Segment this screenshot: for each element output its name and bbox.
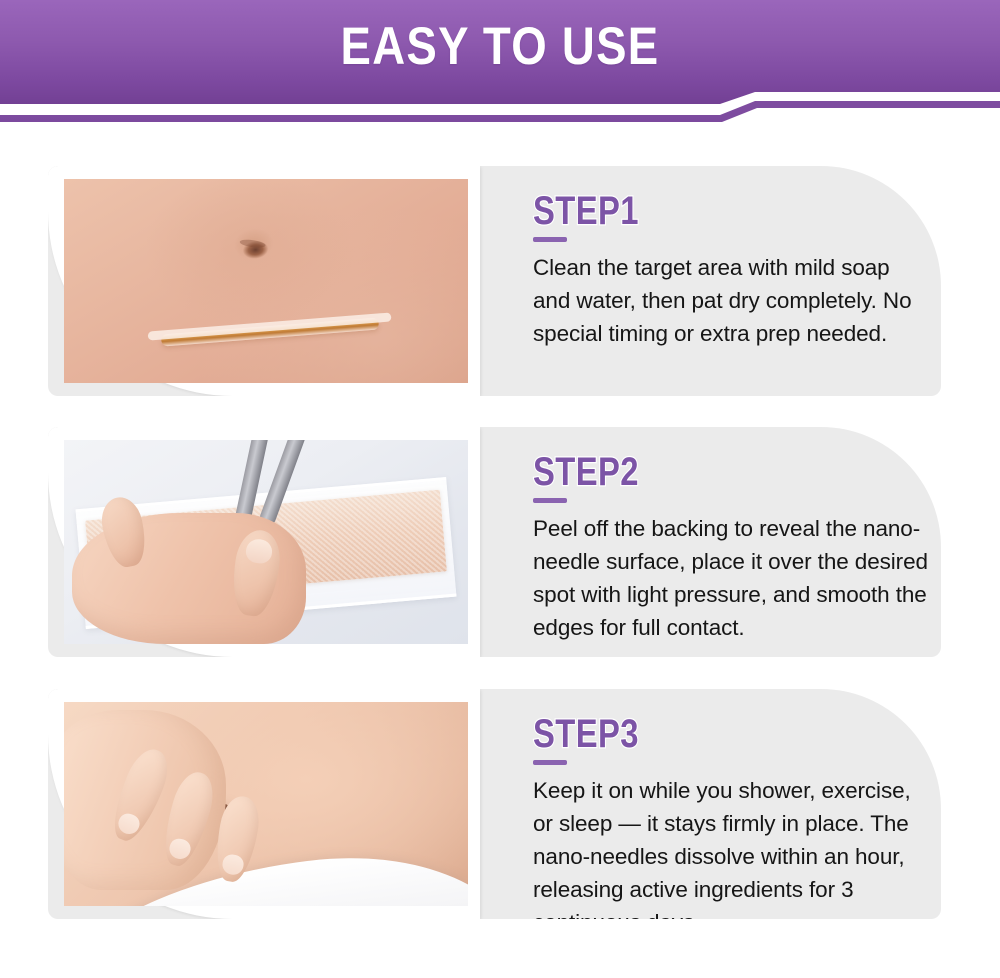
step-3-rule (533, 760, 567, 765)
step-2-body: Peel off the backing to reveal the nano-… (533, 512, 929, 644)
step-1-rule (533, 237, 567, 242)
step-1-photo-frame (48, 166, 480, 396)
step-3-photo-frame (48, 689, 480, 919)
page-title: EASY TO USE (70, 17, 930, 77)
skin-illustration (64, 179, 468, 383)
step-2-label: STEP2 (533, 451, 858, 493)
step-card-1: STEP1 Clean the target area with mild so… (48, 166, 941, 396)
step-3-label: STEP3 (533, 713, 858, 755)
step-3-body: Keep it on while you shower, exercise, o… (533, 774, 929, 919)
step-1-photo (64, 179, 468, 383)
step-2-photo-frame (48, 427, 480, 657)
step-1-label: STEP1 (533, 190, 858, 232)
step-card-3: STEP3 Keep it on while you shower, exerc… (48, 689, 941, 919)
step-2-text-block: STEP2 Peel off the backing to reveal the… (485, 427, 941, 657)
step-3-photo (64, 702, 468, 906)
step-1-text-block: STEP1 Clean the target area with mild so… (485, 166, 941, 396)
step-3-text-block: STEP3 Keep it on while you shower, exerc… (485, 689, 941, 919)
header-banner: EASY TO USE (0, 0, 1000, 125)
step-2-rule (533, 498, 567, 503)
step-1-body: Clean the target area with mild soap and… (533, 251, 929, 350)
step-card-2: STEP2 Peel off the backing to reveal the… (48, 427, 941, 657)
step-2-photo (64, 440, 468, 644)
